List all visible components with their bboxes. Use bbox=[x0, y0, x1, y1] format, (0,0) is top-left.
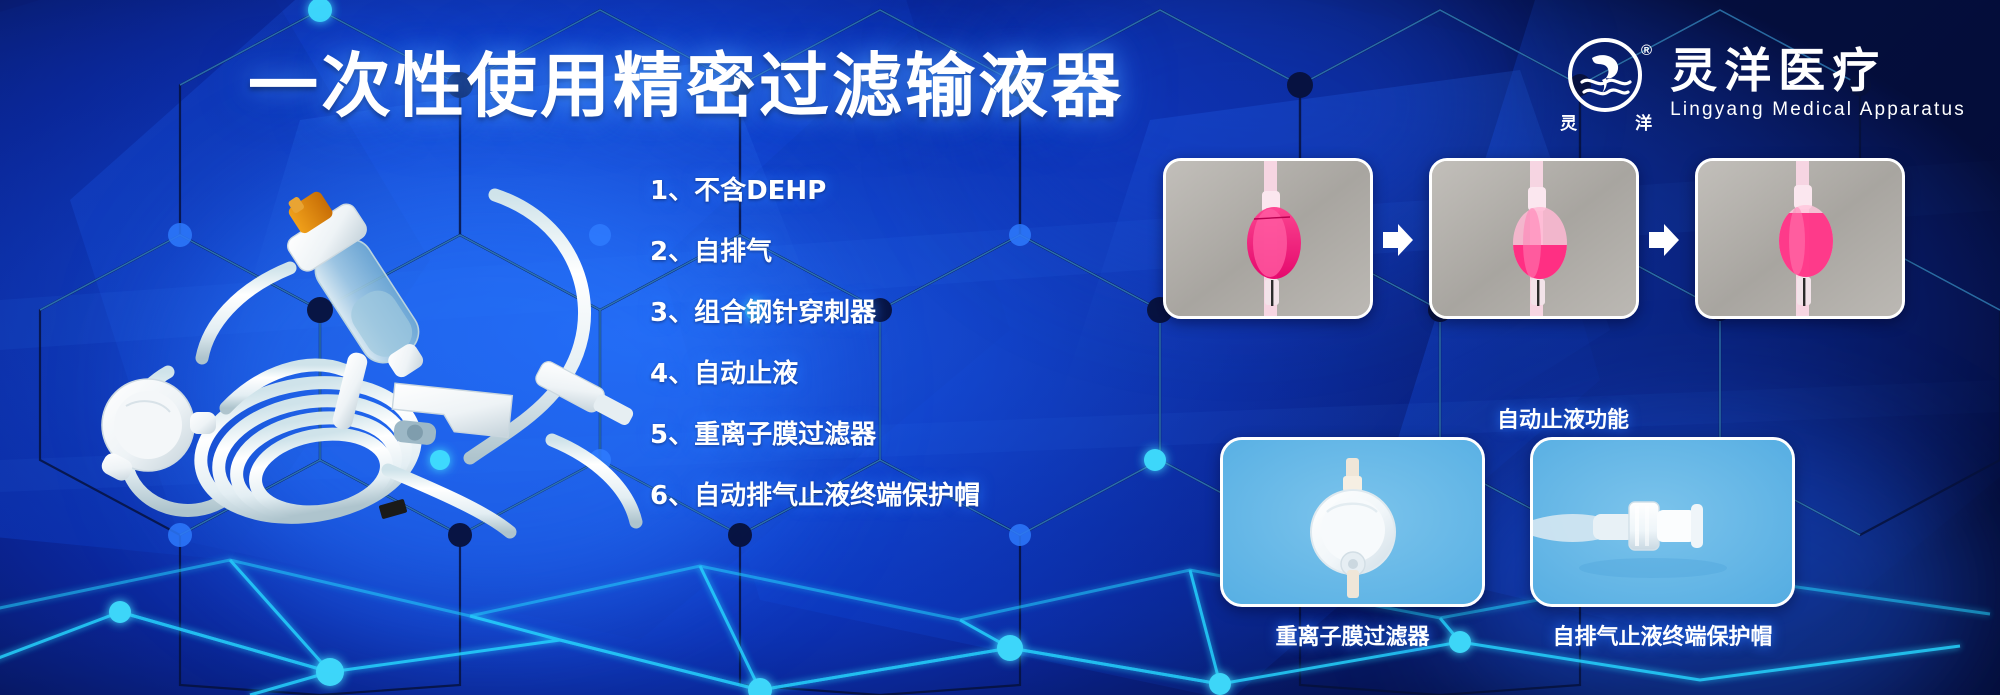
feature-item: 4、自动止液 bbox=[650, 359, 980, 389]
feature-item: 2、自排气 bbox=[650, 237, 980, 267]
logo-emblem-icon bbox=[1568, 38, 1642, 112]
logo-wordmark: 灵洋医疗 Lingyang Medical Apparatus bbox=[1670, 46, 1966, 122]
feature-item: 1、不含DEHP bbox=[650, 176, 980, 206]
product-card-row: 重离子膜过滤器 bbox=[1220, 437, 1960, 617]
auto-stop-demo-sequence bbox=[1163, 158, 1963, 398]
logo-mark-char-right: 洋 bbox=[1635, 109, 1652, 134]
product-hero-image bbox=[40, 140, 660, 540]
demo-photo-flowing bbox=[1166, 161, 1373, 319]
sequence-arrow-2 bbox=[1647, 222, 1681, 258]
logo-mark-char-left: 灵 bbox=[1560, 109, 1577, 134]
demo-photo-half bbox=[1432, 161, 1639, 319]
arrow-right-icon bbox=[1381, 222, 1415, 258]
heavy-ion-membrane-filter-image bbox=[1223, 440, 1485, 607]
demo-frame-2 bbox=[1429, 158, 1639, 319]
arrow-right-icon bbox=[1647, 222, 1681, 258]
product-card-endcap bbox=[1530, 437, 1795, 607]
banner-root: 一次性使用精密过滤输液器 ® 灵 洋 灵洋医疗 Lingyang Medical… bbox=[0, 0, 2000, 695]
feature-item: 6、自动排气止液终端保护帽 bbox=[650, 481, 980, 511]
demo-photo-stopped bbox=[1698, 161, 1905, 319]
feature-list: 1、不含DEHP 2、自排气 3、组合钢针穿刺器 4、自动止液 5、重离子膜过滤… bbox=[650, 176, 980, 511]
product-card-endcap-caption: 自排气止液终端保护帽 bbox=[1530, 619, 1795, 651]
product-card-filter bbox=[1220, 437, 1485, 607]
company-name-en: Lingyang Medical Apparatus bbox=[1670, 98, 1966, 122]
feature-item: 5、重离子膜过滤器 bbox=[650, 420, 980, 450]
feature-item: 3、组合钢针穿刺器 bbox=[650, 298, 980, 328]
wave-fish-icon bbox=[1572, 42, 1638, 108]
demo-sequence-caption: 自动止液功能 bbox=[1163, 402, 1963, 434]
registered-trademark-icon: ® bbox=[1641, 42, 1652, 59]
demo-frame-3 bbox=[1695, 158, 1905, 319]
sequence-arrow-1 bbox=[1381, 222, 1415, 258]
page-title: 一次性使用精密过滤输液器 bbox=[248, 44, 1028, 128]
brand-logo: ® 灵 洋 灵洋医疗 Lingyang Medical Apparatus bbox=[1560, 36, 1966, 132]
title-block: 一次性使用精密过滤输液器 bbox=[248, 44, 1028, 128]
infusion-set-illustration bbox=[40, 140, 660, 540]
demo-frame-1 bbox=[1163, 158, 1373, 319]
tube-label bbox=[379, 499, 408, 520]
logo-mark-chars: 灵 洋 bbox=[1560, 109, 1652, 134]
product-card-filter-caption: 重离子膜过滤器 bbox=[1220, 619, 1485, 651]
company-name-cn: 灵洋医疗 bbox=[1670, 46, 1966, 98]
auto-exhaust-stop-end-cap-image bbox=[1533, 440, 1795, 607]
logo-mark: ® 灵 洋 bbox=[1560, 36, 1652, 132]
